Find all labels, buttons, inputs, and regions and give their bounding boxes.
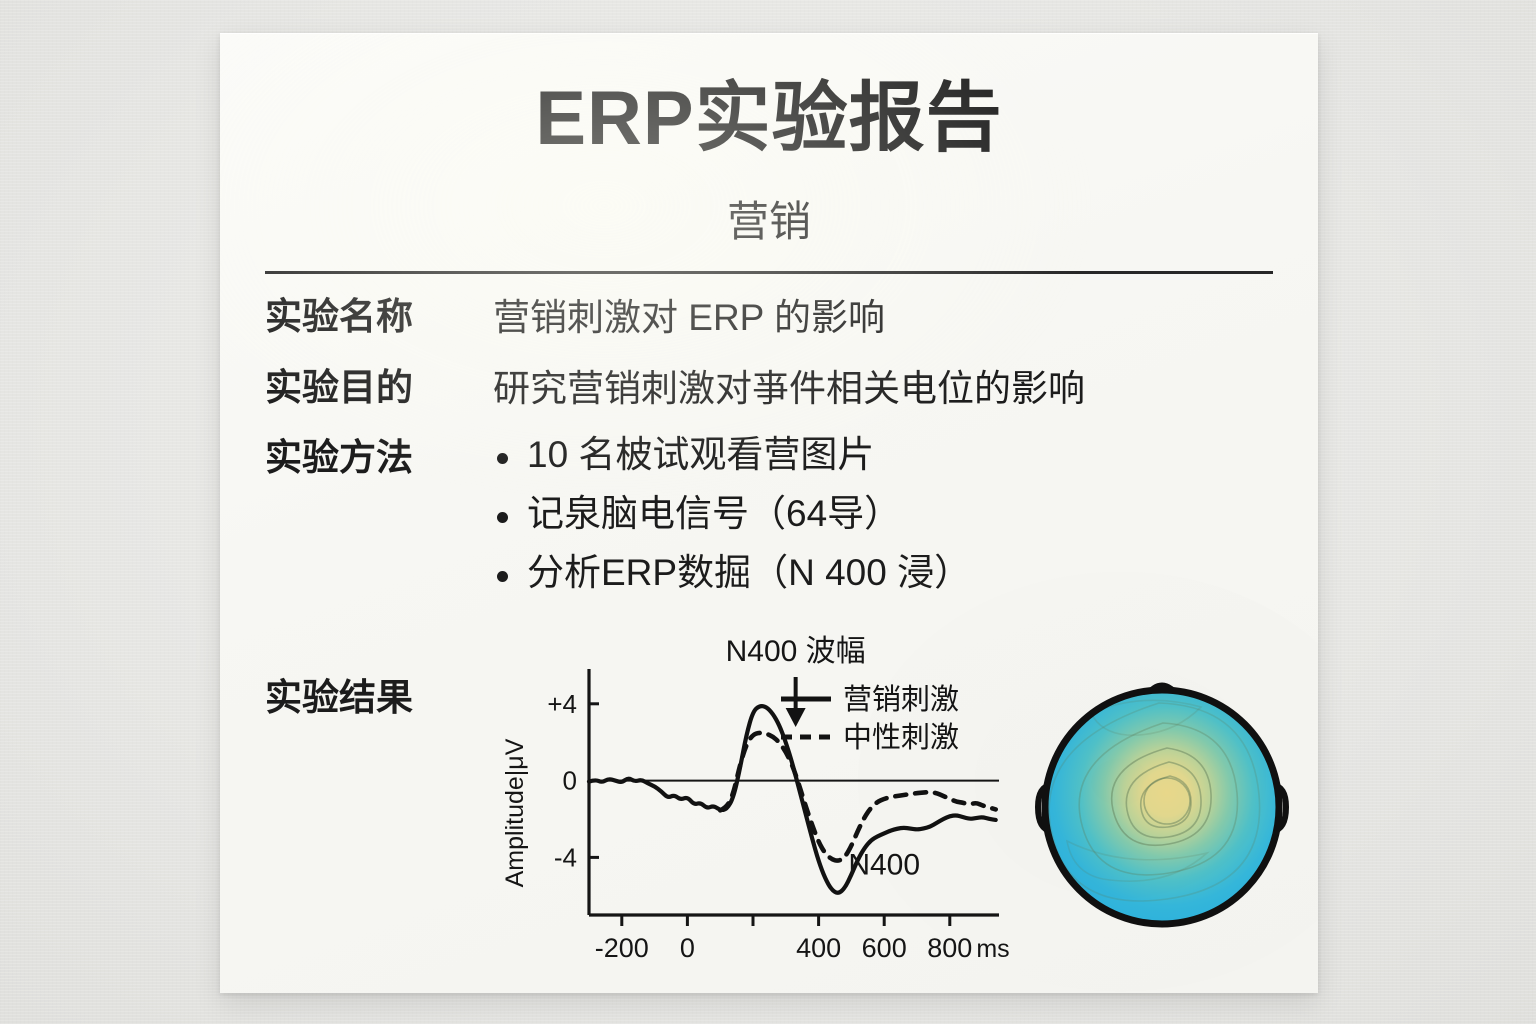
x-tick-label: 0 bbox=[680, 933, 695, 963]
row-label-results: 实验结果 bbox=[265, 633, 493, 721]
header-divider bbox=[265, 271, 1273, 274]
row-value-purpose: 研究营销刺激对亊件相关电位的影响 bbox=[493, 366, 1085, 411]
x-axis-unit-label: ms bbox=[976, 935, 1009, 963]
page-subtitle: 营销 bbox=[220, 201, 1318, 243]
x-tick-label: 800 bbox=[927, 933, 972, 963]
x-tick-label: 600 bbox=[862, 933, 907, 963]
page-title: ERP实验报告 bbox=[220, 81, 1318, 157]
info-rows: 实验名称 营销刺激对 ERP 的影响 实验目的 研究营销刺激对亊件相关电位的影响… bbox=[265, 295, 1275, 617]
method-bullet-list: 10 名柀试观看营图片 记泉脑电信号（64导） 分析ERP数掘（N 400 浸） bbox=[493, 436, 971, 591]
x-tick-label: -200 bbox=[595, 933, 649, 963]
y-tick-label: +4 bbox=[547, 689, 577, 719]
figures-container: +40-4Amplitude|μV-2000400600800msN400 波幅… bbox=[493, 633, 1293, 963]
erp-waveform-chart: +40-4Amplitude|μV-2000400600800msN400 波幅… bbox=[493, 633, 1013, 963]
topography-container bbox=[1031, 645, 1293, 945]
y-axis-title: Amplitude|μV bbox=[501, 738, 529, 887]
row-value-name: 营销刺激对 ERP 的影响 bbox=[493, 295, 885, 340]
info-row-purpose: 实验目的 研究营销刺激对亊件相关电位的影响 bbox=[265, 366, 1275, 411]
list-item: 10 名柀试观看营图片 bbox=[493, 436, 971, 473]
report-sheet: ERP实验报告 营销 实验名称 营销刺激对 ERP 的影响 实验目的 研究营销刺… bbox=[220, 33, 1318, 993]
annotation-arrow-head bbox=[786, 708, 806, 727]
results-section: 实验结果 +40-4Amplitude|μV-2000400600800msN4… bbox=[265, 633, 1275, 963]
info-row-method: 实验方法 10 名柀试观看营图片 记泉脑电信号（64导） 分析ERP数掘（N 4… bbox=[265, 436, 1275, 591]
y-tick-label: 0 bbox=[563, 766, 577, 796]
y-tick-label: -4 bbox=[554, 842, 577, 872]
annotation-n400-amplitude: N400 波幅 bbox=[726, 635, 866, 668]
list-item: 分析ERP数掘（N 400 浸） bbox=[493, 554, 971, 591]
legend-label-2: 中性刺激 bbox=[843, 721, 959, 754]
info-row-name: 实验名称 营销刺激对 ERP 的影响 bbox=[265, 295, 1275, 340]
legend-label-1: 营销刺激 bbox=[843, 683, 959, 716]
x-tick-label: 400 bbox=[796, 933, 841, 963]
list-item: 记泉脑电信号（64导） bbox=[493, 495, 971, 532]
row-label-purpose: 实验目的 bbox=[265, 366, 493, 410]
row-label-name: 实验名称 bbox=[265, 295, 493, 339]
eeg-topography-map bbox=[1031, 645, 1293, 937]
row-label-method: 实验方法 bbox=[265, 436, 493, 480]
annotation-n400-label: N400 bbox=[848, 849, 920, 882]
